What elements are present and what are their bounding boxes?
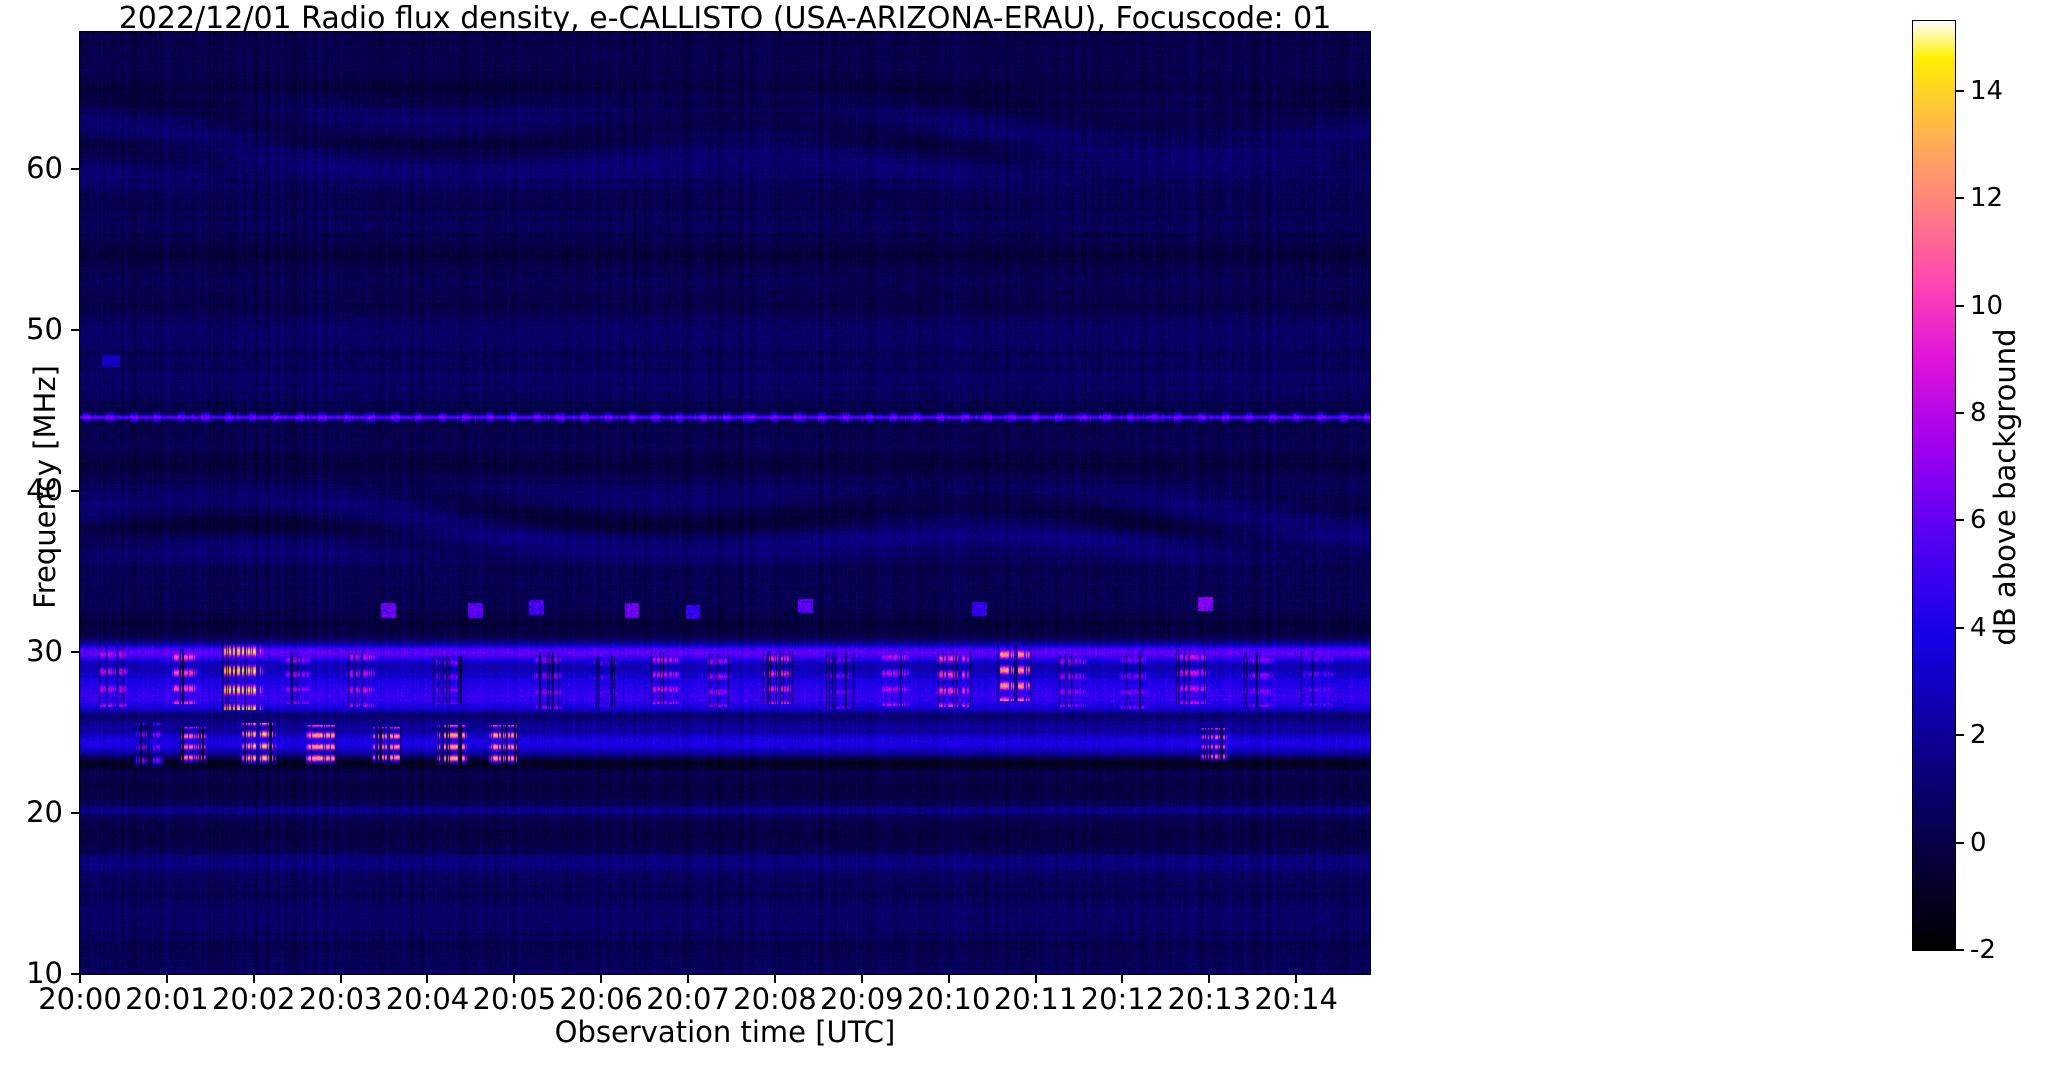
colorbar-tick-label: -2 <box>1970 937 1996 963</box>
colorbar-tick-mark <box>1956 305 1964 307</box>
y-tick-mark <box>71 329 79 331</box>
colorbar-tick-label: 4 <box>1970 615 1987 641</box>
colorbar-tick-label: 2 <box>1970 722 1987 748</box>
colorbar-tick-label: 8 <box>1970 400 1987 426</box>
spectrogram-image <box>80 32 1370 974</box>
colorbar-tick-mark <box>1956 842 1964 844</box>
spectrogram-figure: 2022/12/01 Radio flux density, e-CALLIST… <box>0 0 2047 1067</box>
y-tick-mark <box>71 168 79 170</box>
y-tick-label: 60 <box>1 154 63 183</box>
colorbar-tick-mark <box>1956 519 1964 521</box>
spectrogram-plot-area[interactable] <box>79 31 1371 975</box>
colorbar[interactable] <box>1912 20 1956 951</box>
colorbar-tick-label: 14 <box>1970 78 2003 104</box>
y-tick-label: 40 <box>1 476 63 505</box>
y-tick-label: 50 <box>1 315 63 344</box>
colorbar-tick-label: 0 <box>1970 830 1987 856</box>
y-tick-label: 20 <box>1 798 63 827</box>
x-tick-label: 20:14 <box>1241 985 1351 1014</box>
colorbar-tick-label: 6 <box>1970 507 1987 533</box>
colorbar-gradient <box>1913 21 1955 950</box>
colorbar-tick-mark <box>1956 90 1964 92</box>
colorbar-label: dB above background <box>1988 137 2022 837</box>
y-tick-mark <box>71 812 79 814</box>
y-tick-mark <box>71 490 79 492</box>
y-tick-mark <box>71 973 79 975</box>
y-tick-label: 30 <box>1 637 63 666</box>
colorbar-tick-mark <box>1956 412 1964 414</box>
colorbar-tick-mark <box>1956 627 1964 629</box>
y-tick-mark <box>71 651 79 653</box>
colorbar-tick-mark <box>1956 734 1964 736</box>
colorbar-tick-mark <box>1956 197 1964 199</box>
colorbar-tick-mark <box>1956 949 1964 951</box>
x-axis-label: Observation time [UTC] <box>79 1015 1371 1049</box>
